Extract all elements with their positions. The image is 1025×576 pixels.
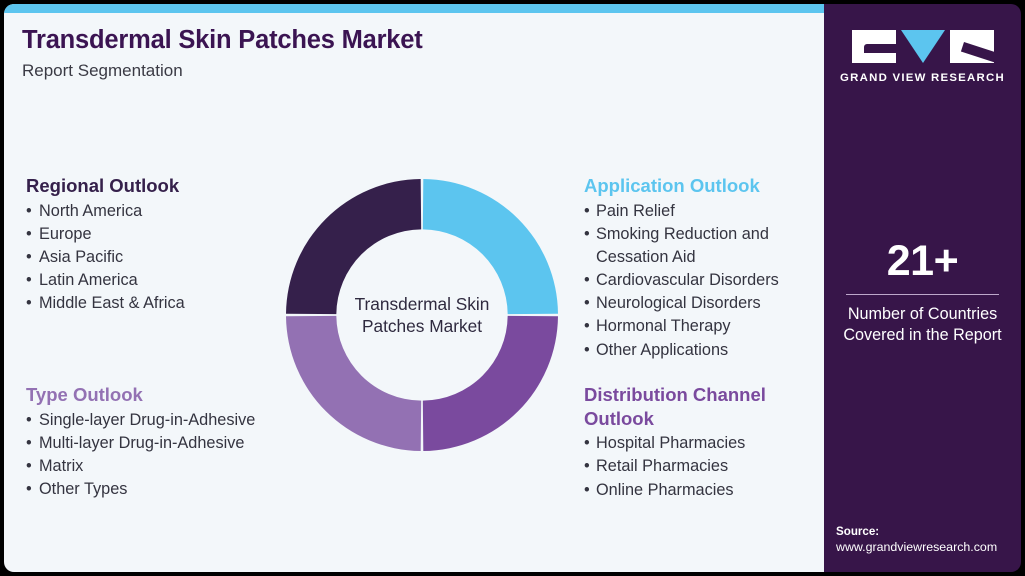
list-item: Hormonal Therapy [584,315,824,338]
main-panel: Transdermal Skin Patches Market Report S… [4,4,824,572]
stat-value: 21+ [836,240,1009,283]
source-url: www.grandviewresearch.com [836,539,1016,556]
list-item: Europe [26,223,276,246]
logo-letter-v-triangle-icon [901,30,945,63]
gvr-logo-mark [824,30,1021,63]
application-outlook-heading: Application Outlook [584,174,824,198]
list-item: Other Applications [584,339,824,362]
list-item: Single-layer Drug-in-Adhesive [26,409,298,432]
list-item-continuation: Cessation Aid [584,246,824,269]
donut-segment [423,179,558,314]
top-accent-bar [4,4,824,13]
regional-outlook-list: North America Europe Asia Pacific Latin … [26,200,276,316]
stat-caption: Number of Countries Covered in the Repor… [836,304,1009,346]
stat-caption-line-1: Number of Countries [836,304,1009,325]
source-label: Source: [836,524,1016,540]
distribution-outlook-list: Hospital Pharmacies Retail Pharmacies On… [584,432,814,501]
page-subtitle: Report Segmentation [22,61,802,81]
list-item: Matrix [26,455,298,478]
page-title: Transdermal Skin Patches Market [22,26,802,55]
list-item: Hospital Pharmacies [584,432,814,455]
donut-segment [423,316,558,451]
donut-segment [286,316,421,451]
source-block: Source: www.grandviewresearch.com [836,524,1016,556]
list-item: Cardiovascular Disorders [584,269,824,292]
type-outlook-list: Single-layer Drug-in-Adhesive Multi-laye… [26,409,298,502]
list-item: Middle East & Africa [26,292,276,315]
segment-type-outlook: Type Outlook Single-layer Drug-in-Adhesi… [26,383,298,501]
type-outlook-heading: Type Outlook [26,383,298,407]
donut-chart-svg [283,176,561,454]
logo-letter-r-icon [950,30,994,63]
infographic-root: Transdermal Skin Patches Market Report S… [0,0,1025,576]
side-panel: GRAND VIEW RESEARCH 21+ Number of Countr… [824,4,1021,572]
list-item: Retail Pharmacies [584,455,814,478]
regional-outlook-heading: Regional Outlook [26,174,276,198]
donut-segment [286,179,421,314]
segment-application-outlook: Application Outlook Pain Relief Smoking … [584,174,824,362]
list-item: Other Types [26,478,298,501]
list-item: Smoking Reduction and [584,223,824,246]
segment-regional-outlook: Regional Outlook North America Europe As… [26,174,276,315]
brand-logo: GRAND VIEW RESEARCH [824,30,1021,84]
stat-divider [846,294,999,295]
list-item: Asia Pacific [26,246,276,269]
brand-wordmark: GRAND VIEW RESEARCH [824,72,1021,84]
header: Transdermal Skin Patches Market Report S… [22,26,802,81]
stat-caption-line-2: Covered in the Report [836,325,1009,346]
list-item: Latin America [26,269,276,292]
logo-letter-g-icon [852,30,896,63]
list-item: Pain Relief [584,200,824,223]
donut-chart: Transdermal Skin Patches Market [283,176,561,454]
stat-block: 21+ Number of Countries Covered in the R… [824,240,1021,346]
application-outlook-list: Pain Relief Smoking Reduction and Cessat… [584,200,824,362]
distribution-outlook-heading: Distribution Channel Outlook [584,383,814,430]
list-item: North America [26,200,276,223]
segment-distribution-channel-outlook: Distribution Channel Outlook Hospital Ph… [584,383,814,502]
list-item: Multi-layer Drug-in-Adhesive [26,432,298,455]
list-item: Neurological Disorders [584,292,824,315]
list-item: Online Pharmacies [584,479,814,502]
